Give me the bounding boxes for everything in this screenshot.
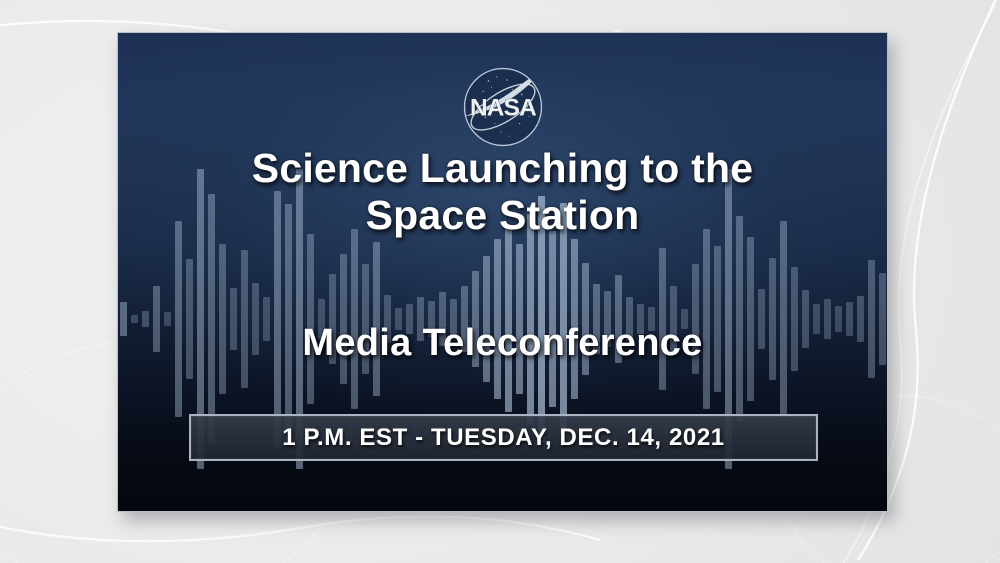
svg-text:NASA: NASA	[469, 94, 535, 121]
waveform-bar	[241, 250, 248, 388]
screenshot-root: NASA Science Launching to the Space Stat…	[0, 0, 1000, 563]
slide-title: Science Launching to the Space Station	[118, 145, 887, 239]
waveform-bar	[175, 221, 182, 417]
date-banner-text: 1 P.M. EST - TUESDAY, DEC. 14, 2021	[282, 424, 725, 452]
waveform-bar	[659, 248, 666, 390]
waveform-bar	[780, 221, 787, 417]
waveform-bar	[714, 246, 721, 392]
waveform-bar	[736, 216, 743, 422]
presentation-slide: NASA Science Launching to the Space Stat…	[117, 32, 888, 512]
slide-title-line-2: Space Station	[162, 192, 843, 239]
date-banner: 1 P.M. EST - TUESDAY, DEC. 14, 2021	[189, 414, 818, 461]
slide-title-line-1: Science Launching to the	[162, 145, 843, 192]
waveform-bar	[494, 239, 501, 399]
waveform-bar	[351, 229, 358, 409]
waveform-bar	[747, 237, 754, 401]
nasa-meatball-icon: NASA	[451, 55, 555, 159]
waveform-bar	[516, 244, 523, 394]
waveform-bar	[703, 229, 710, 409]
slide-subtitle: Media Teleconference	[118, 321, 887, 365]
waveform-bar	[549, 231, 556, 407]
waveform-bar	[571, 239, 578, 399]
waveform-bar	[219, 244, 226, 394]
waveform-bar	[373, 242, 380, 396]
waveform-bar	[527, 214, 534, 424]
waveform-bar	[307, 234, 314, 404]
waveform-bar	[505, 226, 512, 412]
